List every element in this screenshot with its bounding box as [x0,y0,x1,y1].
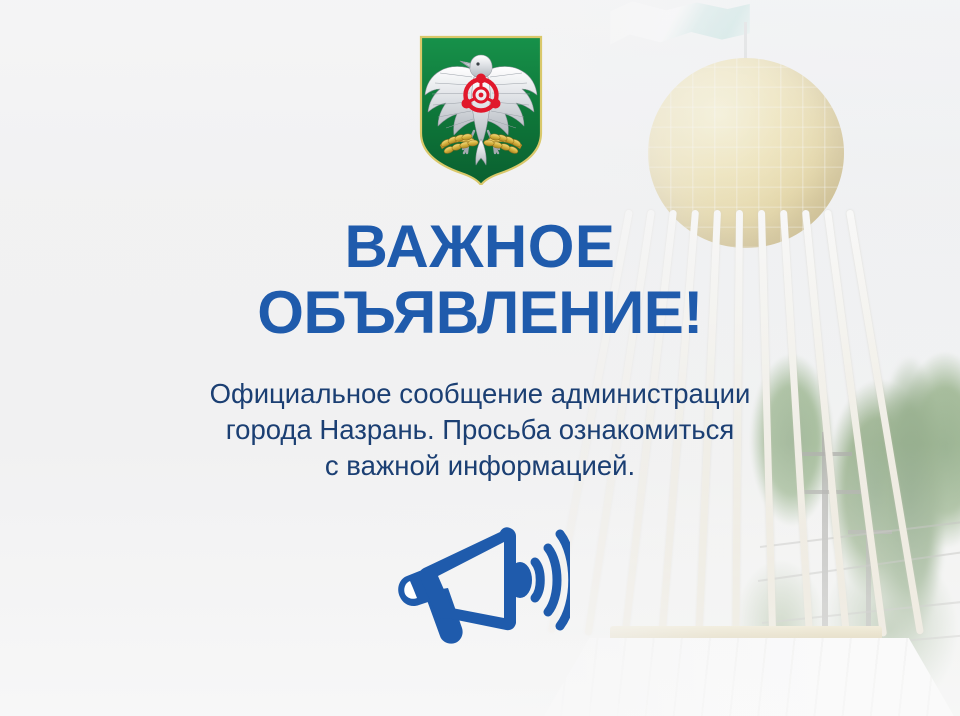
megaphone-icon [394,518,570,644]
coat-of-arms-emblem [416,33,546,185]
title-line-1: ВАЖНОЕ [0,214,960,280]
subtitle-line-3: с важной информацией. [0,448,960,484]
title-line-2: ОБЪЯВЛЕНИЕ! [0,280,960,346]
poster-content: ВАЖНОЕ ОБЪЯВЛЕНИЕ! Официальное сообщение… [0,0,960,716]
poster-title: ВАЖНОЕ ОБЪЯВЛЕНИЕ! [0,214,960,346]
subtitle-line-2: города Назрань. Просьба ознакомиться [0,412,960,448]
subtitle-line-1: Официальное сообщение администрации [0,376,960,412]
announcement-poster: ВАЖНОЕ ОБЪЯВЛЕНИЕ! Официальное сообщение… [0,0,960,716]
poster-subtitle: Официальное сообщение администрации горо… [0,376,960,484]
